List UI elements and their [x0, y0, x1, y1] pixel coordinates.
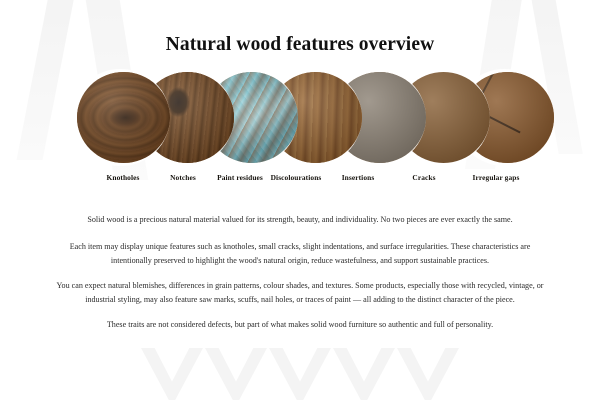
paragraph-intro: Solid wood is a precious natural materia… — [46, 213, 554, 227]
feature-gallery — [0, 72, 600, 167]
feature-labels: Knotholes Notches Paint residues Discolo… — [0, 173, 600, 189]
feature-label-notches: Notches — [170, 173, 196, 182]
body-copy: Solid wood is a precious natural materia… — [0, 213, 600, 331]
page-title: Natural wood features overview — [0, 0, 600, 56]
paragraph-features: Each item may display unique features su… — [46, 240, 554, 268]
paragraph-blemishes: You can expect natural blemishes, differ… — [46, 279, 554, 307]
wood-texture — [77, 72, 170, 163]
feature-image-knotholes — [77, 72, 170, 163]
feature-label-knotholes: Knotholes — [107, 173, 140, 182]
paragraph-conclusion: These traits are not considered defects,… — [46, 318, 554, 332]
page: Natural wood features overview K — [0, 0, 600, 400]
feature-disc — [77, 72, 170, 163]
feature-label-paint-residues: Paint residues — [217, 173, 263, 182]
feature-label-discolourations: Discolourations — [271, 173, 322, 182]
feature-label-insertions: Insertions — [342, 173, 375, 182]
feature-label-cracks: Cracks — [412, 173, 435, 182]
feature-label-irregular-gaps: Irregular gaps — [473, 173, 520, 182]
